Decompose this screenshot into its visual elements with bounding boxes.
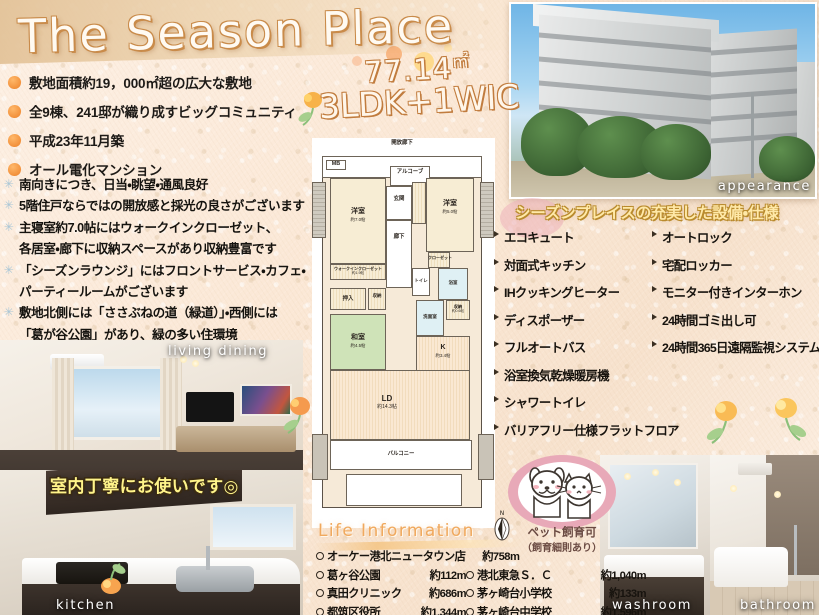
feature-text: 南向きにつき、日当・眺望・通風良好 — [19, 176, 208, 194]
sofa — [176, 426, 296, 452]
feature-text: 「シーズンラウンジ」にはフロントサービス・カフェ・ — [19, 262, 305, 280]
fp-label-western-room-1: 洋室 約7.0帖 — [330, 208, 386, 222]
life-info-distance: 約686m — [423, 585, 466, 601]
plan-type: 3LDK+1WIC — [318, 81, 519, 123]
fp-label-ld: LD 約14.3帖 — [352, 394, 422, 410]
fp-label-storage: 収納 — [368, 293, 386, 299]
ring-bullet-icon — [316, 571, 324, 579]
photo-caption-appearance: appearance — [718, 179, 811, 194]
fp-label-entrance: 玄関 — [386, 196, 412, 203]
sink — [176, 566, 254, 592]
ring-bullet-icon — [316, 589, 324, 597]
fp-edge-left — [312, 434, 328, 480]
asterisk-bullet-icon: ✳ — [2, 197, 15, 214]
feature-text: 主寝室約7.0帖にはウォークインクローゼット、 — [19, 219, 278, 237]
flyer-page: The Season Place 77.14㎡ 3LDK+1WIC 敷地面積約1… — [0, 0, 819, 615]
life-info-distance: 約133m — [603, 585, 646, 601]
list-item: 宅配ロッカー — [652, 256, 819, 274]
list-item: フルオートバス — [494, 338, 646, 356]
shower-hose — [794, 525, 797, 575]
list-item: バリアフリー仕様フラットフロア — [494, 421, 646, 439]
life-info-name: 真田クリニック — [327, 585, 401, 601]
facility-text: 24時間ゴミ出し可 — [662, 311, 756, 329]
life-info-distance: 約1,596m — [595, 604, 646, 615]
list-item: パーティールームがございます — [2, 283, 332, 301]
fp-label-wic: ウォークインクローゼット 約1.9帖 — [330, 266, 386, 275]
facility-text: 宅配ロッカー — [662, 256, 732, 274]
list-item: ✳敷地北側には「ささぶねの道（緑道）」・西側には — [2, 304, 332, 322]
facility-text: ディスポーザー — [504, 311, 584, 329]
flower-icon — [94, 560, 130, 602]
list-item: 真田クリニック 約686m — [316, 585, 466, 601]
list-item: 24時間365日遠隔監視システム — [652, 338, 819, 356]
list-item: ディスポーザー — [494, 311, 646, 329]
fp-storage — [368, 288, 386, 310]
ring-bullet-icon — [316, 552, 324, 560]
life-info-heading: Life Information — [318, 521, 475, 541]
life-info-list: オーケー港北ニュータウン店 約758m 葛ヶ谷公園 約112m 港北東急Ｓ．Ｃ … — [316, 548, 646, 615]
fp-stair-left — [312, 182, 326, 238]
life-info-name: 茅ヶ崎台小学校 — [477, 585, 551, 601]
facility-text: IHクッキングヒーター — [504, 283, 619, 301]
ring-bullet-icon — [466, 589, 474, 597]
facility-text: フルオートバス — [504, 338, 585, 356]
triangle-bullet-icon — [652, 286, 659, 292]
facility-text: エコキュート — [504, 228, 574, 246]
list-item: オーケー港北ニュータウン店 約758m — [316, 548, 646, 564]
tree — [641, 124, 711, 180]
list-item: IHクッキングヒーター — [494, 283, 646, 301]
highlight-text: 敷地面積約19，000㎡超の広大な敷地 — [29, 72, 252, 92]
life-info-name: 都筑区役所 — [327, 604, 380, 615]
floorplan: 開放廊下 MB アルコーブ 玄関 洋室 約7.0帖 洋室 約5.0帖 廊下 クロ… — [312, 138, 495, 528]
life-info-name: 茅ヶ崎台中学校 — [477, 604, 551, 615]
street-light-pole — [751, 92, 754, 178]
feature-text: 5階住戸ならではの開放感と採光の良さがございます — [19, 197, 304, 215]
facility-text: シャワートイレ — [504, 393, 585, 411]
list-item: 港北東急Ｓ．Ｃ 約1,040m — [466, 567, 646, 583]
asterisk-bullet-icon: ✳ — [2, 176, 15, 193]
highlight-list: 敷地面積約19，000㎡超の広大な敷地 全9棟、241邸が織り成すビッグコミュニ… — [8, 72, 328, 188]
fp-label-washroom: 洗面室 — [416, 314, 444, 320]
list-item: 平成23年11月築 — [8, 130, 328, 150]
triangle-bullet-icon — [652, 259, 659, 265]
life-info-distance: 約1,040m — [595, 567, 646, 583]
pet-allowed-badge: ペット飼育可 （飼育細則あり） — [508, 455, 616, 563]
life-info-distance: 約112m — [424, 567, 466, 583]
asterisk-bullet-icon: ✳ — [2, 304, 15, 321]
ring-bullet-icon — [466, 571, 474, 579]
facilities-column-right: オートロック 宅配ロッカー モニター付きインターホン 24時間ゴミ出し可 24時… — [652, 228, 819, 448]
list-item: 全9棟、241邸が織り成すビッグコミュニティ — [8, 101, 328, 121]
list-item: ✳「シーズンラウンジ」にはフロントサービス・カフェ・ — [2, 262, 332, 280]
triangle-bullet-icon — [494, 259, 501, 265]
mirror — [608, 463, 698, 549]
facility-text: 対面式キッチン — [504, 256, 585, 274]
facility-text: 浴室換気乾燥暖房機 — [504, 366, 609, 384]
list-item: 都筑区役所 約1,344m — [316, 604, 466, 615]
facilities-column-left: エコキュート 対面式キッチン IHクッキングヒーター ディスポーザー フルオート… — [494, 228, 646, 448]
fp-label-toilet: トイレ — [412, 278, 430, 284]
triangle-bullet-icon — [652, 341, 659, 347]
overlay-note: 室内丁寧にお使いです◎ — [50, 472, 239, 497]
fp-label-japanese-room: 和室 約4.5帖 — [330, 334, 386, 348]
fp-hall — [386, 220, 412, 288]
list-item: 対面式キッチン — [494, 256, 646, 274]
photo-caption-living: living dining — [168, 344, 268, 359]
fp-label-corridor: 開放廊下 — [372, 140, 432, 147]
life-info-name: 港北東急Ｓ．Ｃ — [477, 567, 551, 583]
fp-label-balcony: バルコニー — [330, 451, 472, 458]
list-item: シャワートイレ — [494, 393, 646, 411]
diamond-bullet-icon — [7, 104, 22, 119]
fp-label-hall: 廊下 — [386, 234, 412, 241]
triangle-bullet-icon — [494, 231, 501, 237]
triangle-bullet-icon — [652, 314, 659, 320]
list-item: 茅ヶ崎台小学校 約133m — [466, 585, 646, 601]
fp-label-alcove: アルコーブ — [390, 169, 430, 176]
highlight-text: 平成23年11月築 — [29, 130, 124, 150]
area-stamp: 77.14㎡ 3LDK+1WIC — [317, 51, 520, 124]
photo-caption-bathroom: bathroom — [740, 598, 816, 613]
curtain — [52, 358, 74, 450]
triangle-bullet-icon — [494, 369, 501, 375]
tree — [759, 136, 815, 182]
feature-list: ✳南向きにつき、日当・眺望・通風良好 ✳5階住戸ならではの開放感と採光の良さがご… — [2, 176, 332, 347]
television — [186, 392, 234, 422]
triangle-bullet-icon — [494, 341, 501, 347]
faucet — [206, 546, 210, 570]
photo-window — [68, 366, 164, 440]
facility-text: モニター付きインターホン — [662, 283, 802, 301]
list-item: 葛ヶ谷公園 約112m — [316, 567, 466, 583]
list-item: ✳南向きにつき、日当・眺望・通風良好 — [2, 176, 332, 194]
diamond-bullet-icon — [7, 133, 22, 148]
feature-text: 敷地北側には「ささぶねの道（緑道）」・西側には — [19, 304, 277, 322]
list-item: 各居室・廊下に収納スペースがあり収納豊富です — [2, 240, 332, 258]
diamond-bullet-icon — [7, 75, 22, 90]
facilities-columns: エコキュート 対面式キッチン IHクッキングヒーター ディスポーザー フルオート… — [494, 228, 819, 448]
ventilation-vent — [738, 463, 772, 475]
fp-label-mb: MB — [326, 161, 346, 168]
fp-label-closet: クローゼット — [428, 255, 450, 260]
list-item: エコキュート — [494, 228, 646, 246]
list-item: 敷地面積約19，000㎡超の広大な敷地 — [8, 72, 328, 92]
bathroom-photo: bathroom — [710, 455, 819, 615]
appearance-photo: appearance — [509, 2, 817, 199]
fp-entrance — [386, 186, 412, 220]
fp-label-bath: 浴室 — [438, 280, 468, 286]
life-info-name: 葛ヶ谷公園 — [327, 567, 380, 583]
life-info-name: オーケー港北ニュータウン店 — [327, 548, 465, 564]
feature-text: パーティールームがございます — [19, 283, 188, 301]
fp-label-western-room-2: 洋室 約5.0帖 — [426, 200, 474, 214]
asterisk-bullet-icon: ✳ — [2, 262, 15, 279]
asterisk-bullet-icon: ✳ — [2, 219, 15, 236]
triangle-bullet-icon — [494, 314, 501, 320]
list-item: オートロック — [652, 228, 819, 246]
highlight-text: 全9棟、241邸が織り成すビッグコミュニティ — [29, 101, 297, 121]
facility-text: 24時間365日遠隔監視システム — [662, 338, 819, 356]
list-item: ✳主寝室約7.0帖にはウォークインクローゼット、 — [2, 219, 332, 237]
feature-text: 各居室・廊下に収納スペースがあり収納豊富です — [19, 240, 276, 258]
list-item: 24時間ゴミ出し可 — [652, 311, 819, 329]
flower-icon — [282, 392, 320, 436]
diamond-bullet-icon — [7, 162, 22, 177]
life-info-distance: 約758m — [476, 548, 519, 564]
fp-label-oshiire: 押入 — [330, 296, 366, 303]
list-item: 茅ヶ崎台中学校 約1,596m — [466, 604, 646, 615]
fp-stair-right — [480, 182, 494, 238]
fp-edge-right — [478, 434, 494, 480]
fp-shoe-box — [412, 182, 426, 224]
dog-and-cat-icon — [522, 464, 602, 520]
photo-window — [210, 504, 296, 550]
fp-western-room-2 — [426, 178, 474, 252]
fp-label-kitchen: K 約3.4帖 — [416, 344, 470, 358]
life-info-distance: 約1,344m — [415, 604, 466, 615]
list-item: ✳5階住戸ならではの開放感と採光の良さがございます — [2, 197, 332, 215]
fp-label-storage-2: 収納 約0.6帖 — [446, 304, 470, 314]
list-item: モニター付きインターホン — [652, 283, 819, 301]
bathtub — [714, 547, 788, 587]
list-item: 浴室換気乾燥暖房機 — [494, 366, 646, 384]
fp-lower-extension — [346, 474, 462, 506]
triangle-bullet-icon — [494, 286, 501, 292]
facilities-heading: シーズンプレイスの充実した設備・仕様 — [515, 201, 819, 223]
svg-text:N: N — [500, 510, 505, 517]
triangle-bullet-icon — [494, 396, 501, 402]
triangle-bullet-icon — [494, 424, 501, 430]
triangle-bullet-icon — [652, 231, 659, 237]
ring-bullet-icon — [466, 608, 474, 615]
ring-bullet-icon — [316, 608, 324, 615]
facility-text: オートロック — [662, 228, 732, 246]
